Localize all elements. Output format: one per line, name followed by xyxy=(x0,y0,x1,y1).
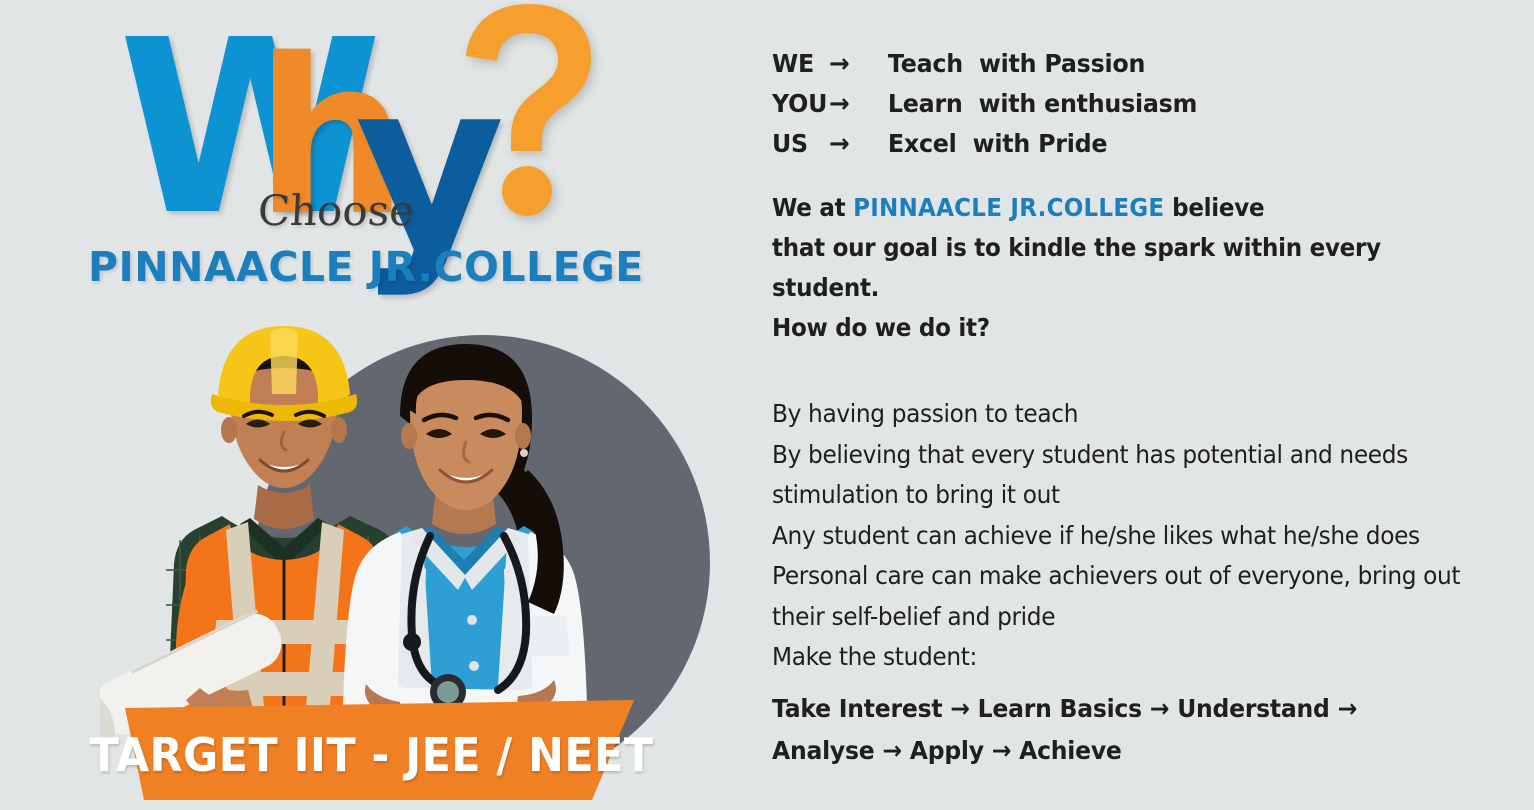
belief-suffix: believe xyxy=(1164,193,1264,222)
motto-subject: YOU xyxy=(772,84,829,124)
motto-action: Learn with enthusiasm xyxy=(888,84,1197,124)
motto-action: Teach with Passion xyxy=(888,44,1145,84)
arrow-right-icon: → xyxy=(829,44,888,84)
students-illustration xyxy=(100,320,660,750)
motto-row: WE → Teach with Passion xyxy=(772,44,1437,84)
right-content-panel: WE → Teach with Passion YOU → Learn with… xyxy=(772,44,1472,784)
motto-action: Excel with Pride xyxy=(888,124,1107,164)
arrow-right-icon: → xyxy=(829,84,888,124)
medical-student xyxy=(342,344,588,750)
choose-script-word: Choose xyxy=(257,186,416,235)
motto-subject: WE xyxy=(772,44,829,84)
belief-statement: We at PINNAACLE JR.COLLEGE believe that … xyxy=(772,188,1468,348)
brand-name-inline: PINNAACLE JR.COLLEGE xyxy=(853,193,1164,222)
motto-subject: US xyxy=(772,124,829,164)
learning-path: Take Interest → Learn Basics → Understan… xyxy=(772,688,1468,772)
how-line: Any student can achieve if he/she likes … xyxy=(772,516,1479,557)
how-line: Make the student: xyxy=(772,637,1479,678)
learning-path-line-1: Take Interest → Learn Basics → Understan… xyxy=(772,688,1468,730)
motto-row: US → Excel with Pride xyxy=(772,124,1437,164)
motto-list: WE → Teach with Passion YOU → Learn with… xyxy=(772,44,1472,164)
arrow-right-icon: → xyxy=(829,124,888,164)
question-mark-icon xyxy=(466,4,606,219)
belief-prefix: We at xyxy=(772,193,853,222)
ribbon-label: TARGET IIT - JEE / NEET xyxy=(138,700,622,800)
target-ribbon-banner: TARGET IIT - JEE / NEET xyxy=(120,700,640,800)
belief-line-2: that our goal is to kindle the spark wit… xyxy=(772,233,1381,302)
how-we-do-it-list: By having passion to teach By believing … xyxy=(772,394,1479,678)
left-panel: W h y Choose PINNAACLE JR.COLLEGE xyxy=(0,0,740,810)
poster-canvas: W h y Choose PINNAACLE JR.COLLEGE xyxy=(0,0,1534,810)
how-line: Personal care can make achievers out of … xyxy=(772,556,1479,637)
belief-line-3: How do we do it? xyxy=(772,313,990,342)
motto-row: YOU → Learn with enthusiasm xyxy=(772,84,1437,124)
brand-name-heading: PINNAACLE JR.COLLEGE xyxy=(88,243,644,291)
how-line: By believing that every student has pote… xyxy=(772,435,1479,516)
how-line: By having passion to teach xyxy=(772,394,1479,435)
learning-path-line-2: Analyse → Apply → Achieve xyxy=(772,730,1468,772)
students-photo xyxy=(100,320,660,750)
